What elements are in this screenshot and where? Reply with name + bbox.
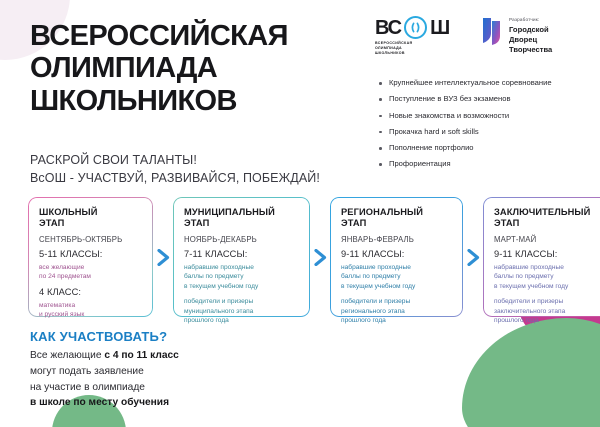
stage-note-2-line-2: регионального этапа — [341, 307, 453, 317]
list-item: Профориентация — [378, 159, 594, 170]
stage-note-2-line-2: муниципального этапа — [184, 307, 300, 317]
stage-title-line-2: ЭТАП — [494, 218, 600, 229]
page-title-line-2: ОЛИМПИАДА — [30, 52, 360, 84]
stage-grades: 9-11 КЛАССЫ: — [494, 249, 600, 259]
stage-note-1-line-1: набравшие проходные — [184, 263, 300, 273]
stage-note-2-line-1: победители и призеры — [341, 297, 453, 307]
how-to-line-2: могут подать заявление — [30, 364, 179, 380]
stage-title: ШКОЛЬНЫЙ ЭТАП — [39, 207, 143, 230]
how-to-line-1-bold: с 4 по 11 класс — [104, 350, 179, 361]
developer-name-line-1: Городской — [509, 25, 552, 35]
page-title: ВСЕРОССИЙСКАЯ ОЛИМПИАДА ШКОЛЬНИКОВ — [30, 20, 360, 117]
how-to-line-3: на участие в олимпиаде — [30, 380, 179, 396]
stage-note-2-line-1: математика — [39, 301, 143, 311]
stage-months: НОЯБРЬ-ДЕКАБРЬ — [184, 235, 300, 244]
stage-note-2-line-3: прошлого года — [184, 316, 300, 326]
how-to-body: Все желающие с 4 по 11 класс могут подат… — [30, 348, 179, 411]
stage-title: ЗАКЛЮЧИТЕЛЬНЫЙ ЭТАП — [494, 207, 600, 230]
stage-title: МУНИЦИПАЛЬНЫЙ ЭТАП — [184, 207, 300, 230]
tagline-line-2: ВсОШ - УЧАСТВУЙ, РАЗВИВАЙСЯ, ПОБЕЖДАЙ! — [30, 170, 320, 188]
stage-grades-secondary: 4 КЛАСС: — [39, 287, 143, 297]
stage-note-2: победители и призеры муниципального этап… — [184, 297, 300, 326]
list-item: Поступление в ВУЗ без экзаменов — [378, 94, 594, 105]
stage-months: МАРТ-МАЙ — [494, 235, 600, 244]
stage-title-line-1: ШКОЛЬНЫЙ — [39, 207, 143, 218]
stage-title: РЕГИОНАЛЬНЫЙ ЭТАП — [341, 207, 453, 230]
vsosh-circle-icon — [404, 16, 427, 39]
stage-note-1: набравшие проходные баллы по предмету в … — [494, 263, 600, 292]
decorative-blob-green-right — [462, 318, 600, 427]
stage-note-2-line-3: прошлого года — [341, 316, 453, 326]
logo-row: ВС Ш ВСЕРОССИЙСКАЯ ОЛИМПИАДА ШКОЛЬНИКОВ — [375, 16, 590, 68]
developer-text: Разработчик: Городской Дворец Творчества — [509, 16, 552, 55]
tagline: РАСКРОЙ СВОИ ТАЛАНТЫ! ВсОШ - УЧАСТВУЙ, Р… — [30, 152, 320, 188]
how-to-line-4: в школе по месту обучения — [30, 395, 179, 411]
list-item: Пополнение портфолио — [378, 143, 594, 154]
stage-note-1: набравшие проходные баллы по предмету в … — [184, 263, 300, 292]
stage-note-2-line-2: и русский язык — [39, 310, 143, 320]
stage-title-line-1: РЕГИОНАЛЬНЫЙ — [341, 207, 453, 218]
stage-note-2-line-1: победители и призеры — [184, 297, 300, 307]
stage-card-regional: РЕГИОНАЛЬНЫЙ ЭТАП ЯНВАРЬ-ФЕВРАЛЬ 9-11 КЛ… — [330, 197, 463, 317]
page-title-line-3: ШКОЛЬНИКОВ — [30, 85, 360, 117]
stage-note-1: набравшие проходные баллы по предмету в … — [341, 263, 453, 292]
stage-title-line-1: МУНИЦИПАЛЬНЫЙ — [184, 207, 300, 218]
stage-grades: 5-11 КЛАССЫ: — [39, 249, 143, 259]
stage-card-final: ЗАКЛЮЧИТЕЛЬНЫЙ ЭТАП МАРТ-МАЙ 9-11 КЛАССЫ… — [483, 197, 600, 317]
stage-card-school: ШКОЛЬНЫЙ ЭТАП СЕНТЯБРЬ-ОКТЯБРЬ 5-11 КЛАС… — [28, 197, 153, 317]
stage-note-2: победители и призеры заключительного эта… — [494, 297, 600, 326]
stage-note-1-line-1: набравшие проходные — [494, 263, 600, 273]
benefits-list: Крупнейшее интеллектуальное соревнование… — [378, 78, 594, 176]
vsosh-logo: ВС Ш ВСЕРОССИЙСКАЯ ОЛИМПИАДА ШКОЛЬНИКОВ — [375, 16, 467, 57]
stage-note-1-line-3: в текущем учебном году — [494, 282, 600, 292]
stage-note-2: победители и призеры регионального этапа… — [341, 297, 453, 326]
stages-row: ШКОЛЬНЫЙ ЭТАП СЕНТЯБРЬ-ОКТЯБРЬ 5-11 КЛАС… — [28, 197, 573, 317]
developer-mark-icon — [481, 16, 503, 46]
stage-note-1-line-2: баллы по предмету — [494, 272, 600, 282]
stage-note-2-line-3: прошлого года — [494, 316, 600, 326]
developer-name: Городской Дворец Творчества — [509, 25, 552, 55]
list-item: Крупнейшее интеллектуальное соревнование — [378, 78, 594, 89]
stage-title-line-1: ЗАКЛЮЧИТЕЛЬНЫЙ — [494, 207, 600, 218]
stage-grades: 9-11 КЛАССЫ: — [341, 249, 453, 259]
stage-note-1-line-3: в текущем учебном году — [184, 282, 300, 292]
stage-note-2-line-1: победители и призеры — [494, 297, 600, 307]
how-to-title: КАК УЧАСТВОВАТЬ? — [30, 329, 167, 344]
developer-label: Разработчик: — [509, 17, 552, 23]
stage-card-municipal: МУНИЦИПАЛЬНЫЙ ЭТАП НОЯБРЬ-ДЕКАБРЬ 7-11 К… — [173, 197, 310, 317]
stage-note-1-line-3: в текущем учебном году — [341, 282, 453, 292]
vsosh-wordmark-right: Ш — [430, 18, 449, 38]
tagline-line-1: РАСКРОЙ СВОИ ТАЛАНТЫ! — [30, 152, 320, 170]
vsosh-wordmark-left: ВС — [375, 18, 401, 38]
stage-arrow-3-icon — [463, 197, 483, 317]
how-to-line-1-plain: Все желающие — [30, 350, 104, 361]
stage-arrow-1-icon — [153, 197, 173, 317]
vsosh-subtitle-line-3: ШКОЛЬНИКОВ — [375, 51, 467, 56]
stage-note-2-line-2: заключительного этапа — [494, 307, 600, 317]
stage-months: СЕНТЯБРЬ-ОКТЯБРЬ — [39, 235, 143, 244]
stage-note-1: все желающие по 24 предметам — [39, 263, 143, 282]
how-to-line-4-bold: в школе по месту обучения — [30, 397, 169, 408]
stage-note-2: математика и русский язык — [39, 301, 143, 320]
stage-title-line-2: ЭТАП — [341, 218, 453, 229]
stage-title-line-2: ЭТАП — [184, 218, 300, 229]
stage-title-line-2: ЭТАП — [39, 218, 143, 229]
how-to-line-1: Все желающие с 4 по 11 класс — [30, 348, 179, 364]
stage-note-1-line-1: набравшие проходные — [341, 263, 453, 273]
developer-name-line-2: Дворец — [509, 35, 552, 45]
stage-note-1-line-2: баллы по предмету — [341, 272, 453, 282]
stage-note-1-line-1: все желающие — [39, 263, 143, 273]
stage-note-1-line-2: по 24 предметам — [39, 272, 143, 282]
poster-root: ВСЕРОССИЙСКАЯ ОЛИМПИАДА ШКОЛЬНИКОВ ВС Ш … — [0, 0, 600, 427]
developer-name-line-3: Творчества — [509, 45, 552, 55]
stage-grades: 7-11 КЛАССЫ: — [184, 249, 300, 259]
developer-logo: Разработчик: Городской Дворец Творчества — [481, 16, 552, 55]
vsosh-wordmark: ВС Ш — [375, 16, 467, 39]
stage-arrow-2-icon — [310, 197, 330, 317]
list-item: Прокачка hard и soft skills — [378, 127, 594, 138]
page-title-line-1: ВСЕРОССИЙСКАЯ — [30, 20, 360, 52]
stage-months: ЯНВАРЬ-ФЕВРАЛЬ — [341, 235, 453, 244]
stage-note-1-line-2: баллы по предмету — [184, 272, 300, 282]
vsosh-subtitle: ВСЕРОССИЙСКАЯ ОЛИМПИАДА ШКОЛЬНИКОВ — [375, 41, 467, 57]
list-item: Новые знакомства и возможности — [378, 111, 594, 122]
